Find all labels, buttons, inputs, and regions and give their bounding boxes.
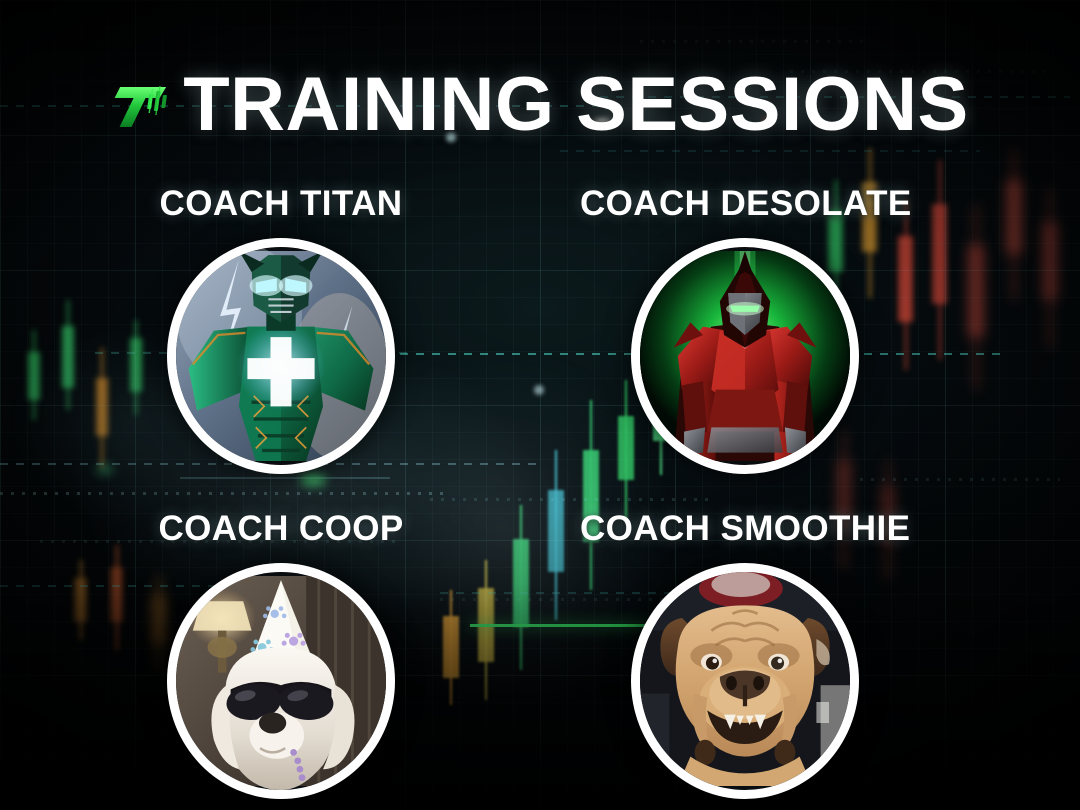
coach-card-smoothie[interactable]: COACH SMOOTHIE [580,509,910,799]
coach-label: COACH DESOLATE [580,184,910,224]
candle [62,300,74,410]
candle [548,450,564,620]
coach-card-desolate[interactable]: COACH DESOLATE [580,184,910,474]
glow-dot [300,474,326,486]
coach-label: COACH SMOOTHIE [580,509,910,549]
avatar-ring [167,238,395,474]
level-line [180,477,390,479]
avatar-ring [631,238,859,474]
glow-dot [534,385,544,395]
candle [28,330,40,420]
coach-card-coop[interactable]: COACH COOP [116,509,446,799]
tick-row [640,40,870,43]
candle [96,348,108,468]
coach-label: COACH TITAN [116,184,446,224]
avatar[interactable] [176,247,386,465]
avatar[interactable] [176,572,386,790]
candle [513,505,529,670]
candle [1006,150,1022,300]
level-line [560,150,980,152]
candle [1042,188,1058,348]
candle [478,560,494,700]
red-knight-avatar-icon [640,247,850,465]
avatar[interactable] [640,247,850,465]
page-title: TRAINING SESSIONS [183,67,969,143]
coach-card-titan[interactable]: COACH TITAN [116,184,446,474]
candle [74,560,87,640]
header: TRAINING SESSIONS [0,62,1080,148]
glow-dot [96,465,114,474]
tradetitan-t-logo-icon [111,81,173,135]
armored-titan-avatar-icon [176,247,386,465]
tick-row [0,492,450,495]
tick-row [430,498,710,501]
candle [968,205,984,390]
bulldog-avatar-icon [640,572,850,790]
tick-row [860,478,1060,481]
candle [932,160,947,360]
avatar-ring [631,563,859,799]
avatar[interactable] [640,572,850,790]
avatar-ring [167,563,395,799]
training-sessions-graphic: TRAINING SESSIONS COACH TITAN [0,0,1080,810]
dog-party-hat-avatar-icon [176,572,386,790]
coach-label: COACH COOP [116,509,446,549]
